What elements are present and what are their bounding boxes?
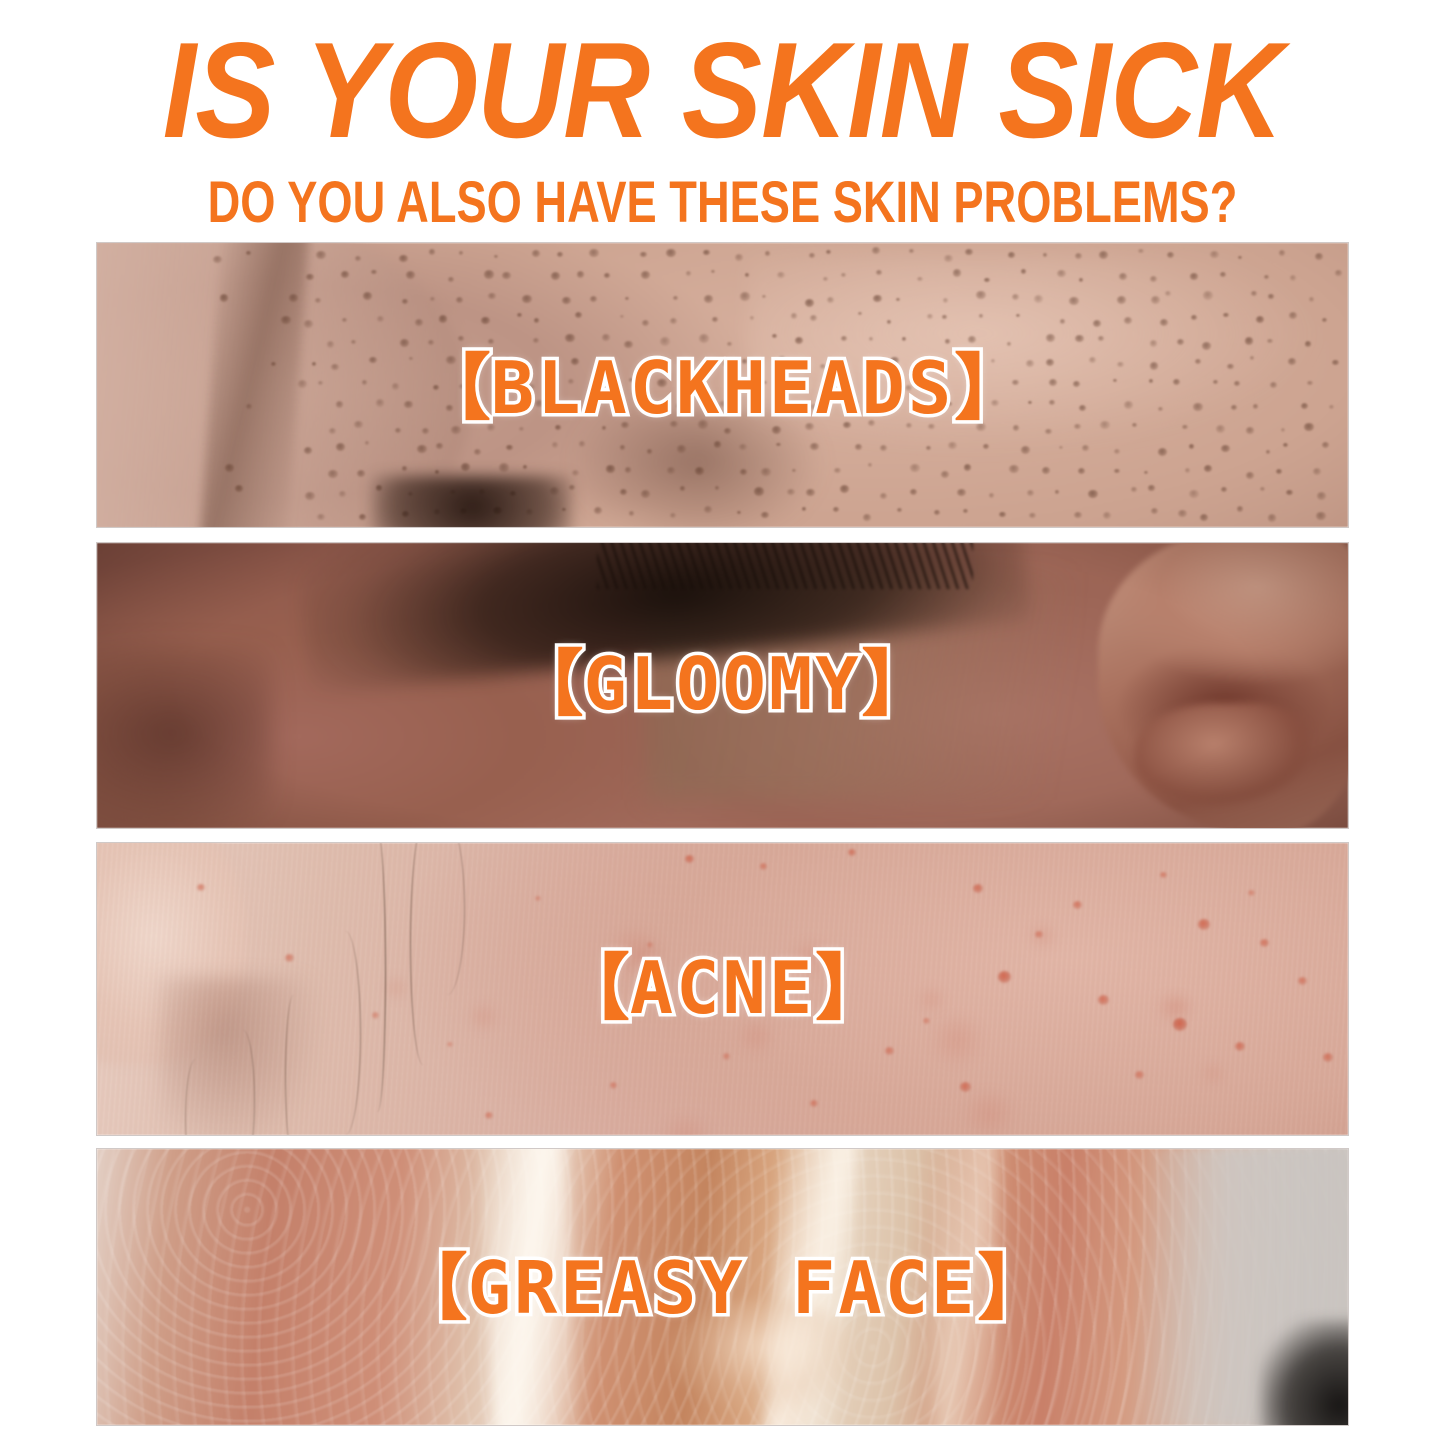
- panel-label-greasy-face: 【GREASY FACE】: [0, 1252, 1445, 1324]
- bracket-open-icon: 【: [419, 346, 491, 430]
- panel-label-text: BLACKHEADS: [491, 346, 954, 430]
- bracket-close-icon: 】: [862, 642, 934, 726]
- bracket-close-icon: 】: [954, 346, 1026, 430]
- page-subtitle: DO YOU ALSO HAVE THESE SKIN PROBLEMS?: [159, 174, 1286, 232]
- bracket-open-icon: 【: [558, 946, 630, 1030]
- bracket-open-icon: 【: [396, 1246, 468, 1330]
- panel-label-acne: 【ACNE】: [0, 952, 1445, 1024]
- panel-label-text: GREASY FACE: [468, 1246, 978, 1330]
- bracket-close-icon: 】: [815, 946, 887, 1030]
- bracket-open-icon: 【: [511, 642, 583, 726]
- panel-label-blackheads: 【BLACKHEADS】: [0, 352, 1445, 424]
- panel-label-text: ACNE: [630, 946, 815, 1030]
- skin-problems-poster: IS YOUR SKIN SICK DO YOU ALSO HAVE THESE…: [0, 0, 1445, 1445]
- bracket-close-icon: 】: [977, 1246, 1049, 1330]
- panel-label-text: GLOOMY: [583, 642, 861, 726]
- page-title: IS YOUR SKIN SICK: [83, 22, 1362, 158]
- panel-label-gloomy: 【GLOOMY】: [0, 648, 1445, 720]
